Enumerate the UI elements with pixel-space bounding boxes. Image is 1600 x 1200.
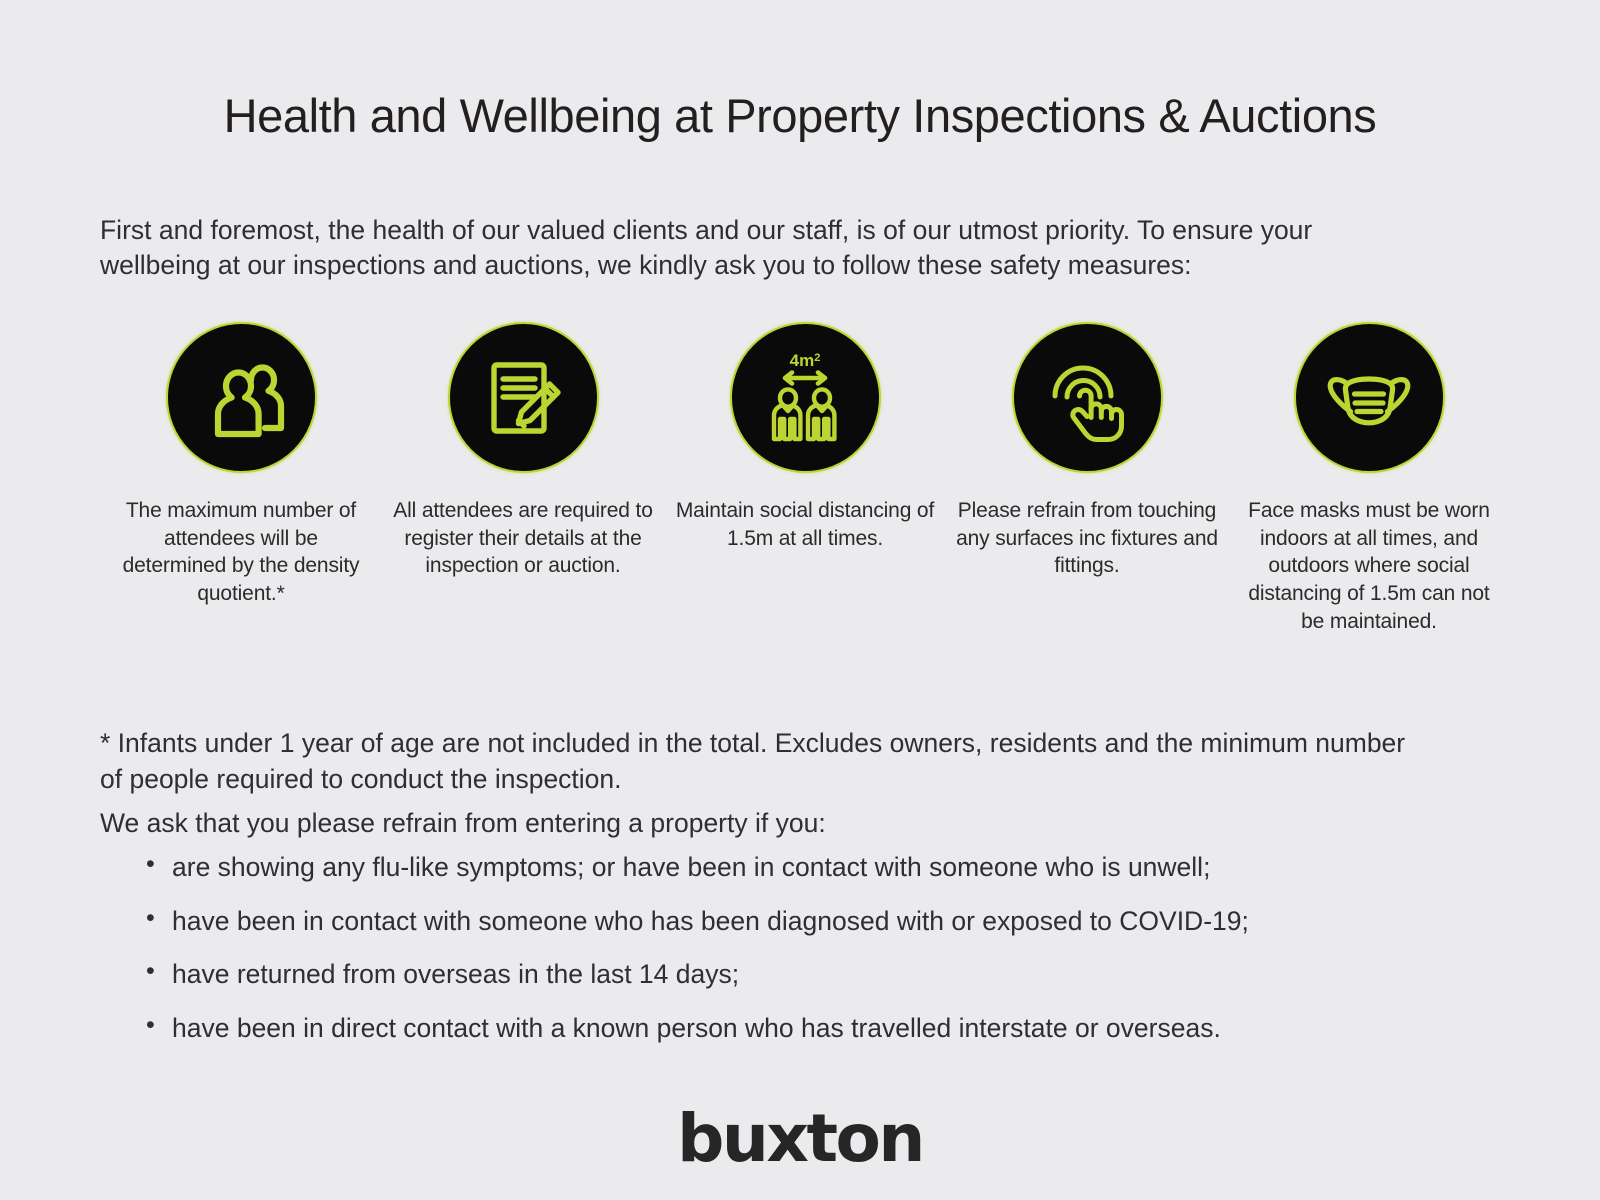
measure-caption: Maintain social distancing of 1.5m at al…: [674, 497, 936, 552]
measure-caption: The maximum number of attendees will be …: [110, 497, 372, 608]
refrain-intro-line: We ask that you please refrain from ente…: [100, 806, 1420, 842]
measure-item-register: All attendees are required to register t…: [392, 322, 654, 580]
list-item: have been in direct contact with a known…: [100, 1011, 1480, 1047]
refrain-conditions-list: are showing any flu-like symptoms; or ha…: [100, 850, 1480, 1064]
measure-item-no-touch: Please refrain from touching any surface…: [956, 322, 1218, 580]
measure-item-face-mask: Face masks must be worn indoors at all t…: [1238, 322, 1500, 636]
list-item: are showing any flu-like symptoms; or ha…: [100, 850, 1480, 886]
brand-logo-text: buxton: [677, 1106, 923, 1172]
measure-item-distancing: 4m2 Maintain social distancing of 1.5m a…: [674, 322, 936, 552]
document-pencil-icon: [448, 322, 599, 473]
intro-paragraph: First and foremost, the health of our va…: [100, 213, 1420, 283]
measure-caption: Please refrain from touching any surface…: [956, 497, 1218, 580]
distance-label: 4m2: [790, 351, 821, 370]
face-mask-icon: [1294, 322, 1445, 473]
measure-caption: All attendees are required to register t…: [392, 497, 654, 580]
footnote-text: * Infants under 1 year of age are not in…: [100, 726, 1420, 797]
list-item: have returned from overseas in the last …: [100, 957, 1480, 993]
two-people-icon: [166, 322, 317, 473]
measure-item-density: The maximum number of attendees will be …: [110, 322, 372, 608]
social-distancing-icon: 4m2: [730, 322, 881, 473]
page-title: Health and Wellbeing at Property Inspect…: [0, 88, 1600, 143]
brand-logo: buxton: [0, 1106, 1600, 1172]
touch-hand-icon: [1012, 322, 1163, 473]
health-wellbeing-poster: Health and Wellbeing at Property Inspect…: [0, 0, 1600, 1200]
measure-caption: Face masks must be worn indoors at all t…: [1240, 497, 1498, 636]
list-item: have been in contact with someone who ha…: [100, 904, 1480, 940]
safety-measures-row: The maximum number of attendees will be …: [110, 322, 1500, 636]
